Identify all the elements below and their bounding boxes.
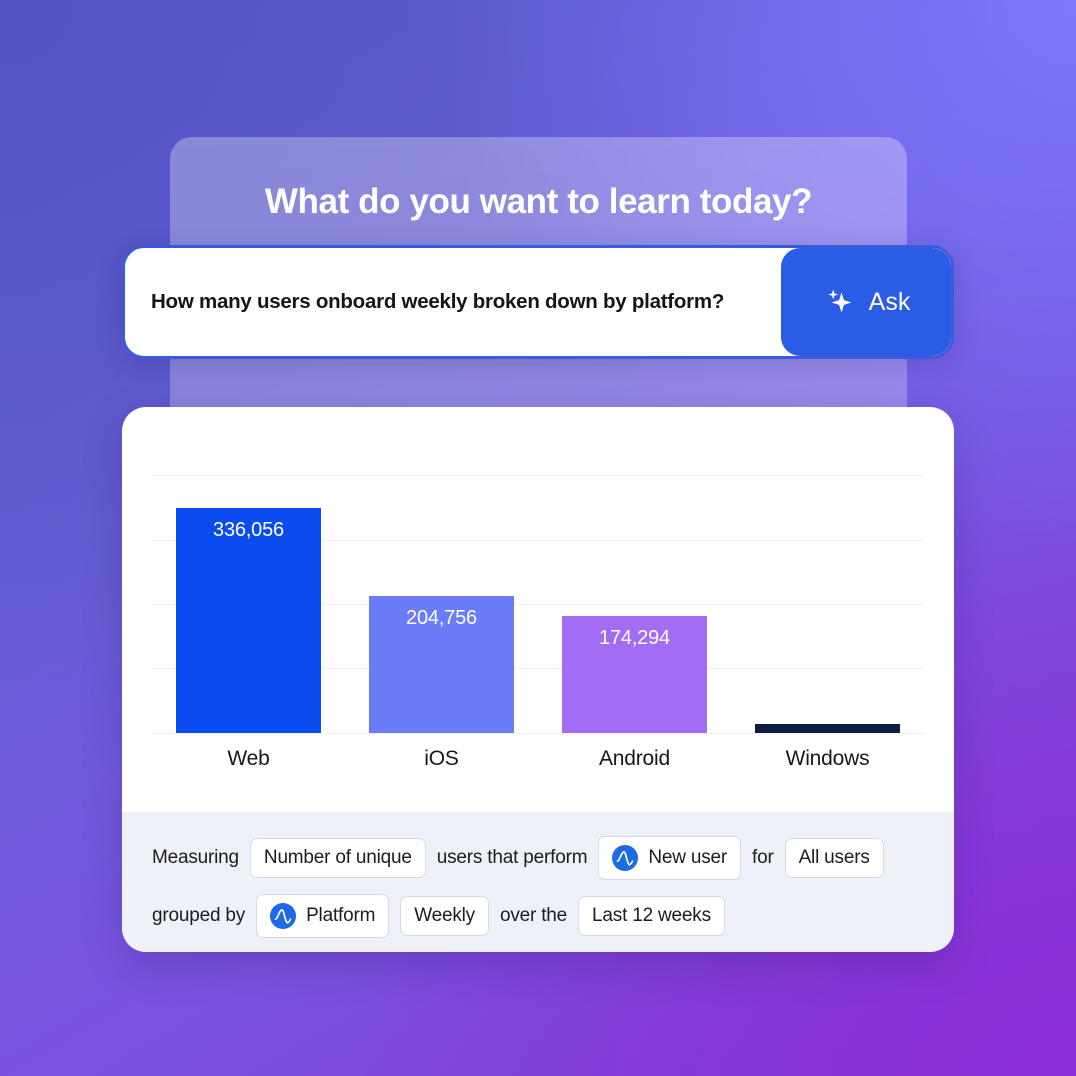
chip-segment[interactable]: All users — [785, 838, 884, 878]
chart-bar[interactable]: 204,756 — [369, 596, 514, 733]
chip-interval-label: Weekly — [414, 905, 475, 927]
label-over-the: over the — [500, 905, 567, 927]
query-builder-row-1: Measuring Number of unique users that pe… — [152, 836, 924, 880]
chip-event-label: New user — [648, 847, 727, 869]
label-measuring: Measuring — [152, 847, 239, 869]
chart-bar[interactable]: 174,294 — [562, 616, 707, 733]
x-axis-label: Web — [152, 747, 345, 771]
query-builder-row-2: grouped by Platform Weekly over the Las — [152, 894, 924, 938]
page-background: What do you want to learn today? Ask 336… — [0, 0, 1076, 1076]
chip-date-range[interactable]: Last 12 weeks — [578, 896, 725, 936]
result-card: 336,056204,756174,294 WebiOSAndroidWindo… — [122, 407, 954, 952]
bar-value-label: 174,294 — [599, 627, 670, 650]
x-axis-label: iOS — [345, 747, 538, 771]
chart-x-axis: WebiOSAndroidWindows — [152, 747, 924, 771]
label-users-that-perform: users that perform — [437, 847, 588, 869]
bar-slot — [731, 475, 924, 733]
chip-interval[interactable]: Weekly — [400, 896, 489, 936]
x-axis-label: Windows — [731, 747, 924, 771]
bar-slot: 204,756 — [345, 475, 538, 733]
chip-metric-label: Number of unique — [264, 847, 412, 869]
label-grouped-by: grouped by — [152, 905, 245, 927]
label-for: for — [752, 847, 774, 869]
x-axis-label: Android — [538, 747, 731, 771]
chart-plot-area: 336,056204,756174,294 — [152, 475, 924, 733]
bar-slot: 174,294 — [538, 475, 731, 733]
page-title: What do you want to learn today? — [170, 182, 907, 222]
gridline — [152, 733, 924, 734]
chip-event[interactable]: New user — [598, 836, 741, 880]
amplitude-icon — [612, 845, 638, 871]
ask-button-label: Ask — [869, 288, 911, 317]
chip-segment-label: All users — [799, 847, 870, 869]
sparkle-icon — [822, 285, 856, 319]
chip-date-range-label: Last 12 weeks — [592, 905, 711, 927]
amplitude-icon — [270, 903, 296, 929]
search-bar[interactable]: Ask — [122, 245, 954, 359]
ask-button[interactable]: Ask — [781, 248, 951, 356]
search-input[interactable] — [125, 248, 781, 356]
bar-chart: 336,056204,756174,294 WebiOSAndroidWindo… — [152, 407, 924, 812]
chip-metric[interactable]: Number of unique — [250, 838, 426, 878]
bar-value-label: 336,056 — [213, 519, 284, 542]
chip-group-by[interactable]: Platform — [256, 894, 389, 938]
bar-value-label: 204,756 — [406, 607, 477, 630]
chart-bar[interactable] — [755, 724, 900, 733]
chart-bar[interactable]: 336,056 — [176, 508, 321, 733]
chip-group-by-label: Platform — [306, 905, 375, 927]
query-builder: Measuring Number of unique users that pe… — [122, 812, 954, 952]
bar-slot: 336,056 — [152, 475, 345, 733]
